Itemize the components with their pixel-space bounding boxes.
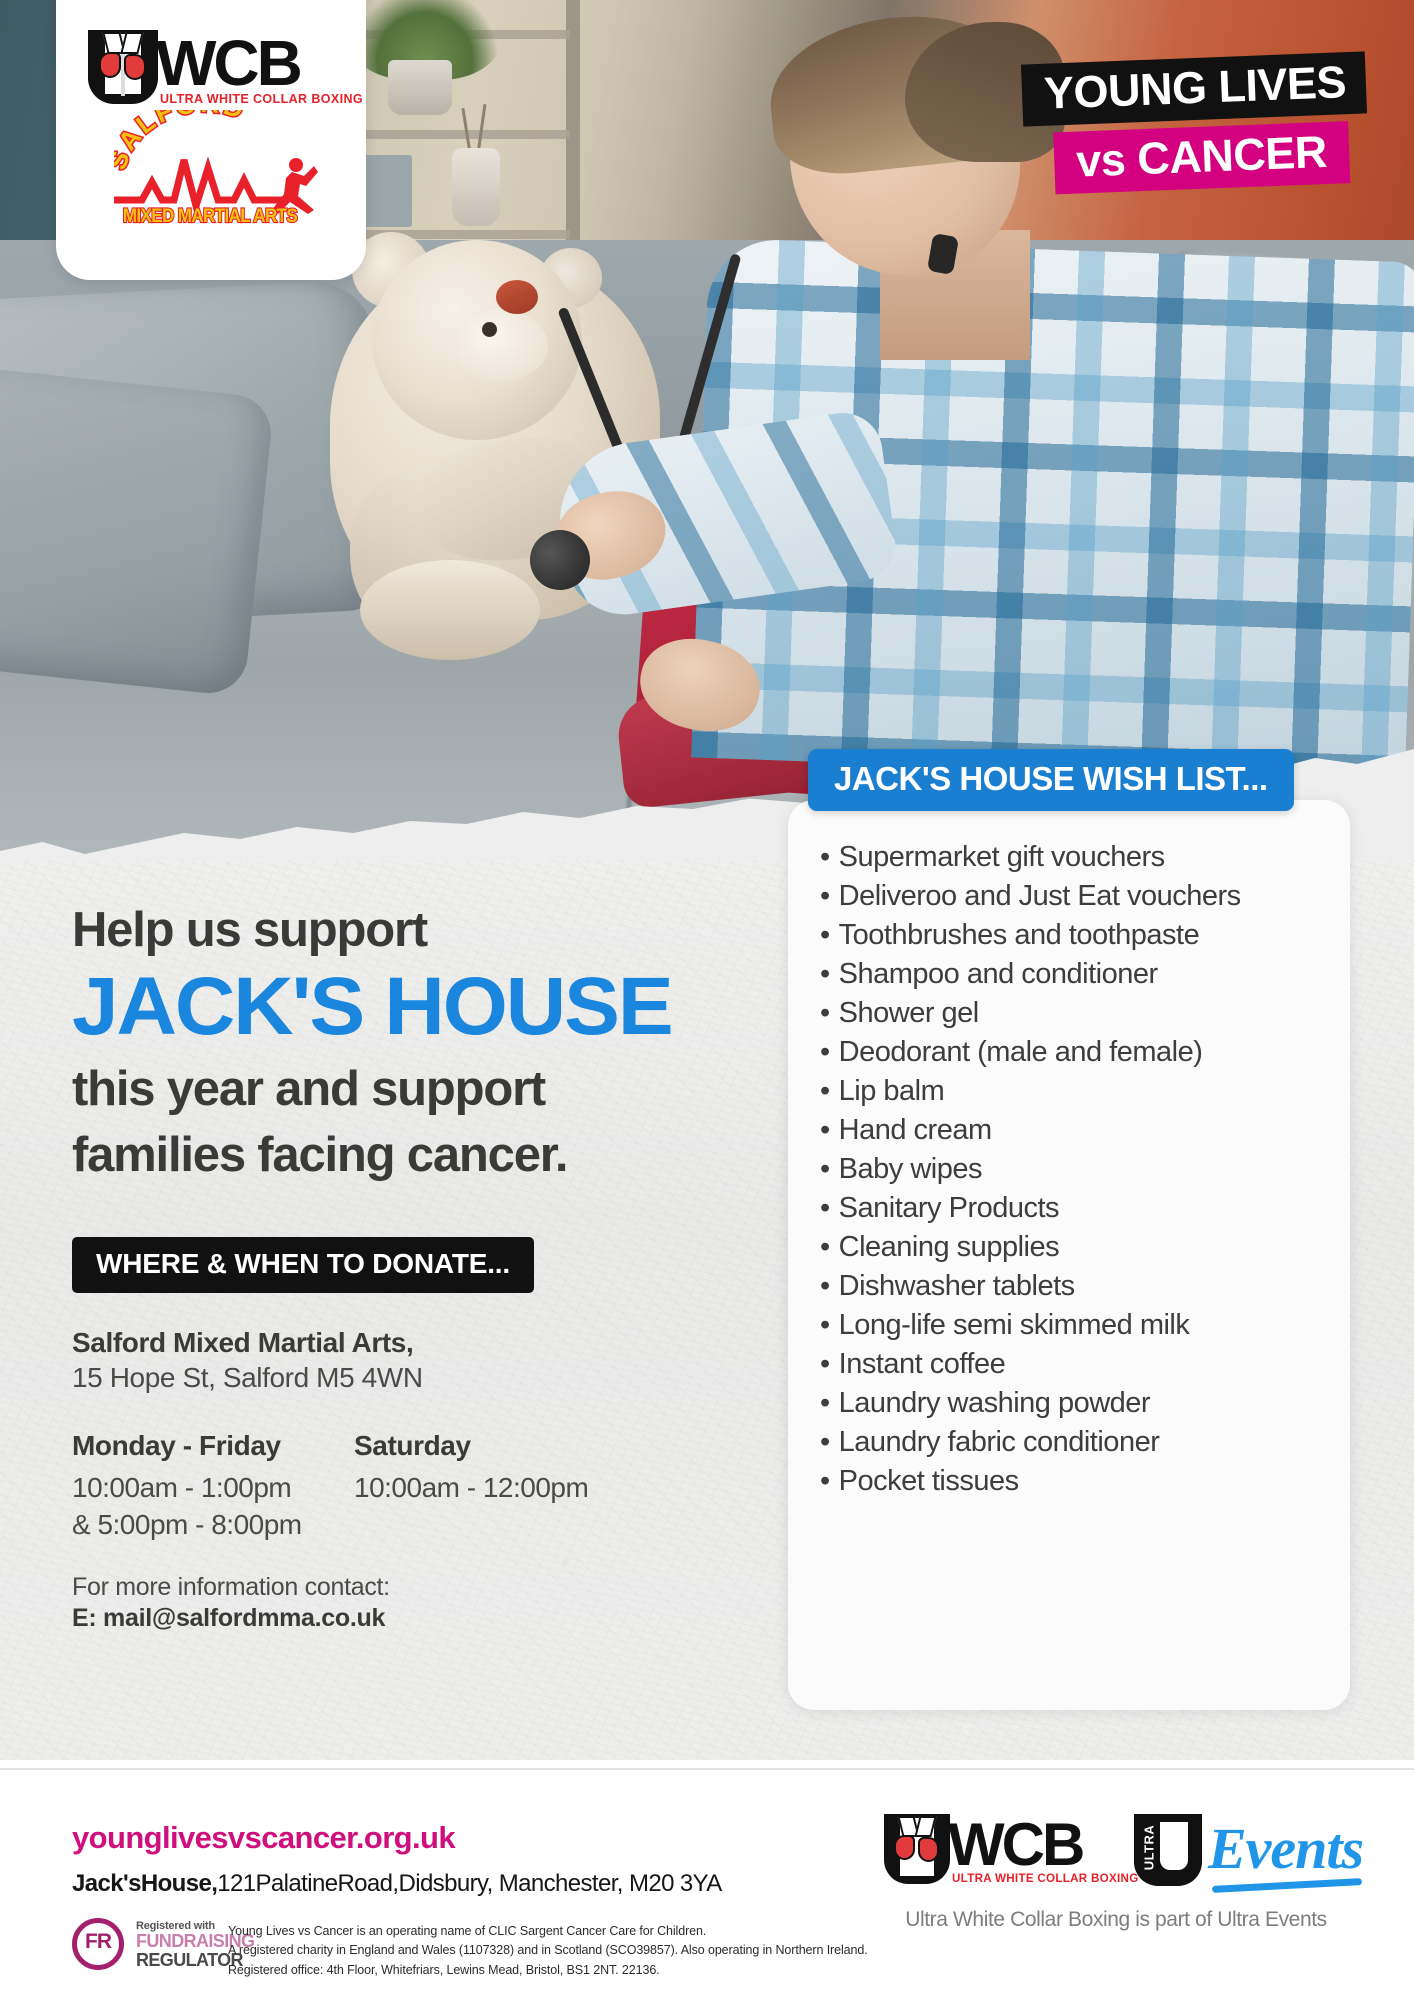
hours-saturday: Saturday 10:00am - 12:00pm <box>354 1430 588 1543</box>
ylc-line-1: YOUNG LIVES <box>1021 51 1367 126</box>
uwcb-tagline: Ultra White Collar Boxing is part of Ult… <box>866 1908 1366 1932</box>
teddy-bear-nose <box>496 280 538 314</box>
wishlist-item-label: Dishwasher tablets <box>839 1270 1075 1302</box>
shelf-bottom <box>330 230 570 239</box>
footer-address-bold: Jack'sHouse, <box>72 1870 217 1897</box>
uwcb-wordmark: WCB <box>156 28 300 98</box>
where-when-banner: WHERE & WHEN TO DONATE... <box>72 1237 534 1293</box>
bullet-icon: • <box>820 997 830 1029</box>
uwcb-u-shape-icon <box>88 30 158 104</box>
u-events-u-counter <box>1160 1822 1188 1870</box>
wishlist-item: •Deliveroo and Just Eat vouchers <box>820 877 1340 916</box>
teddy-bear-foot <box>360 560 540 660</box>
footer-uwcb-wordmark: WCB <box>948 1812 1082 1878</box>
opening-hours: Monday - Friday 10:00am - 1:00pm & 5:00p… <box>72 1430 772 1543</box>
wishlist-item: •Shower gel <box>820 994 1340 1033</box>
wishlist-item-label: Baby wipes <box>839 1153 982 1185</box>
headline-line-1: Help us support <box>72 905 772 956</box>
salford-mma-logo: SALFORD MIXED MARTIAL ARTS <box>104 110 320 230</box>
contact-email[interactable]: E: mail@salfordmma.co.uk <box>72 1604 772 1633</box>
hours-weekday-times-l2: & 5:00pm - 8:00pm <box>72 1509 302 1540</box>
wishlist-item: •Pocket tissues <box>820 1462 1340 1501</box>
bullet-icon: • <box>820 1465 830 1497</box>
footer-uwcb-u-shape-icon <box>884 1814 950 1884</box>
legal-line-2: A registered charity in England and Wale… <box>228 1941 868 1960</box>
footer: younglivesvscancer.org.uk Jack'sHouse,12… <box>0 1770 1414 2000</box>
legal-line-1: Young Lives vs Cancer is an operating na… <box>228 1922 868 1941</box>
teddy-bear-eye <box>482 322 497 337</box>
wishlist-item-label: Instant coffee <box>839 1348 1006 1380</box>
wishlist-item-label: Deliveroo and Just Eat vouchers <box>839 880 1241 912</box>
wishlist-item: •Lip balm <box>820 1072 1340 1111</box>
hours-weekday-times-l1: 10:00am - 1:00pm <box>72 1472 291 1503</box>
wishlist-item-label: Deodorant (male and female) <box>839 1036 1203 1068</box>
bullet-icon: • <box>820 1153 830 1185</box>
wishlist-item-label: Laundry fabric conditioner <box>839 1426 1160 1458</box>
shelf-middle <box>330 130 570 139</box>
bullet-icon: • <box>820 1426 830 1458</box>
bullet-icon: • <box>820 841 830 873</box>
fr-monogram: FR <box>72 1930 124 1954</box>
wishlist-item: •Cleaning supplies <box>820 1228 1340 1267</box>
footer-uwcb-logo: WCB ULTRA WHITE COLLAR BOXING <box>884 1814 1114 1890</box>
wishlist-item: •Dishwasher tablets <box>820 1267 1340 1306</box>
bullet-icon: • <box>820 1036 830 1068</box>
headline-highlight: JACK'S HOUSE <box>72 961 786 1053</box>
headline-line-2: this year and support <box>72 1061 772 1119</box>
salford-mma-subtitle: MIXED MARTIAL ARTS <box>110 205 310 228</box>
hours-saturday-times: 10:00am - 12:00pm <box>354 1469 588 1506</box>
wishlist-item-label: Sanitary Products <box>839 1192 1059 1224</box>
wishlist-item-label: Toothbrushes and toothpaste <box>839 919 1200 951</box>
teddy-bear-snout <box>452 310 548 382</box>
u-events-wordmark: Events <box>1208 1814 1363 1884</box>
bullet-icon: • <box>820 1192 830 1224</box>
bullet-icon: • <box>820 1387 830 1419</box>
wishlist-item: •Sanitary Products <box>820 1189 1340 1228</box>
wishlist-item: •Baby wipes <box>820 1150 1340 1189</box>
wishlist-item-label: Cleaning supplies <box>839 1231 1059 1263</box>
hours-saturday-days: Saturday <box>354 1430 588 1462</box>
wishlist-item-label: Shampoo and conditioner <box>839 958 1158 990</box>
bullet-icon: • <box>820 1348 830 1380</box>
footer-address-rest: 121PalatineRoad,Didsbury, Manchester, M2… <box>217 1870 721 1897</box>
wishlist-item: •Shampoo and conditioner <box>820 955 1340 994</box>
wishlist-item-label: Hand cream <box>839 1114 992 1146</box>
wishlist-item-label: Supermarket gift vouchers <box>839 841 1165 873</box>
bullet-icon: • <box>820 1231 830 1263</box>
venue-name: Salford Mixed Martial Arts, <box>72 1327 772 1359</box>
plant-pot <box>388 60 452 115</box>
poster-root: WCB ULTRA WHITE COLLAR BOXING SALFORD MI… <box>0 0 1414 2000</box>
bullet-icon: • <box>820 1075 830 1107</box>
ylc-line-2: vs CANCER <box>1053 121 1350 194</box>
uwcb-logo: WCB ULTRA WHITE COLLAR BOXING <box>88 30 336 108</box>
wishlist-item: •Hand cream <box>820 1111 1340 1150</box>
footer-address: Jack'sHouse,121PalatineRoad,Didsbury, Ma… <box>72 1870 722 1898</box>
fundraising-regulator-logo: FR <box>72 1918 126 1972</box>
headline-line-3: families facing cancer. <box>72 1127 772 1185</box>
bullet-icon: • <box>820 958 830 990</box>
bullet-icon: • <box>820 880 830 912</box>
wishlist-item: •Laundry fabric conditioner <box>820 1423 1340 1462</box>
footer-website-link[interactable]: younglivesvscancer.org.uk <box>72 1820 455 1856</box>
cushion-left-lower <box>0 363 275 697</box>
u-events-ultra-label: ULTRA <box>1142 1822 1157 1874</box>
venue-address: 15 Hope St, Salford M5 4WN <box>72 1362 772 1394</box>
contact-lead: For more information contact: <box>72 1573 772 1602</box>
wishlist-item-label: Pocket tissues <box>839 1465 1019 1497</box>
wishlist-item: •Toothbrushes and toothpaste <box>820 916 1340 955</box>
wishlist-heading: JACK'S HOUSE WISH LIST... <box>808 749 1294 811</box>
wishlist-item-label: Laundry washing powder <box>839 1387 1150 1419</box>
wishlist-item: •Long-life semi skimmed milk <box>820 1306 1340 1345</box>
boxing-glove-right-icon <box>124 54 146 80</box>
vase <box>452 148 500 226</box>
wishlist-item: •Supermarket gift vouchers <box>820 838 1340 877</box>
wishlist-item-label: Long-life semi skimmed milk <box>839 1309 1190 1341</box>
left-content-column: Help us support JACK'S HOUSE this year a… <box>72 905 772 1633</box>
u-events-u-shape-icon: ULTRA <box>1134 1814 1202 1886</box>
footer-boxing-glove-right-icon <box>918 1837 939 1862</box>
hours-weekday-days: Monday - Friday <box>72 1430 354 1462</box>
footer-boxing-glove-left-icon <box>894 1835 915 1860</box>
footer-logos: WCB ULTRA WHITE COLLAR BOXING ULTRA Even… <box>866 1800 1366 1970</box>
legal-text: Young Lives vs Cancer is an operating na… <box>228 1922 868 1980</box>
hours-weekday-times: 10:00am - 1:00pm & 5:00pm - 8:00pm <box>72 1469 354 1543</box>
sponsor-logo-card: WCB ULTRA WHITE COLLAR BOXING SALFORD MI… <box>56 0 366 280</box>
wishlist-item: •Instant coffee <box>820 1345 1340 1384</box>
bullet-icon: • <box>820 919 830 951</box>
young-lives-vs-cancer-logo: YOUNG LIVES vs CANCER <box>1022 58 1366 182</box>
wishlist-item: •Deodorant (male and female) <box>820 1033 1340 1072</box>
bullet-icon: • <box>820 1114 830 1146</box>
wishlist-item: •Laundry washing powder <box>820 1384 1340 1423</box>
bullet-icon: • <box>820 1270 830 1302</box>
uwcb-subtitle: ULTRA WHITE COLLAR BOXING <box>160 92 363 106</box>
hours-weekday: Monday - Friday 10:00am - 1:00pm & 5:00p… <box>72 1430 354 1543</box>
wishlist-item-label: Shower gel <box>839 997 979 1029</box>
u-events-logo: ULTRA Events <box>1134 1812 1364 1892</box>
bullet-icon: • <box>820 1309 830 1341</box>
footer-uwcb-subtitle: ULTRA WHITE COLLAR BOXING <box>952 1872 1139 1885</box>
wishlist-item-label: Lip balm <box>839 1075 945 1107</box>
wishlist-items: •Supermarket gift vouchers•Deliveroo and… <box>820 838 1340 1501</box>
boxing-glove-left-icon <box>99 52 121 78</box>
legal-line-3: Registered office: 4th Floor, Whitefriar… <box>228 1961 868 1980</box>
